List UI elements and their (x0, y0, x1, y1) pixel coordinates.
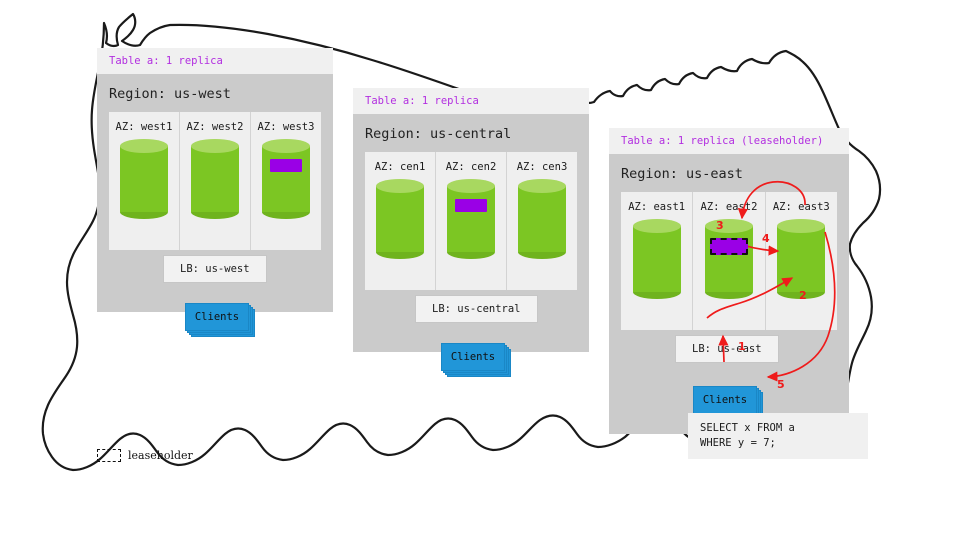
cylinder-top (705, 219, 753, 233)
az-cell-east3[interactable]: AZ: east3 (766, 192, 837, 330)
cylinder-body (120, 146, 168, 212)
az-label-cen1: AZ: cen1 (375, 161, 426, 173)
flow-step-number-1: 1 (738, 340, 746, 353)
flow-step-number-5: 5 (777, 378, 785, 391)
az-label-east3: AZ: east3 (773, 201, 830, 213)
cylinder-body (705, 226, 753, 292)
cylinder-body (447, 186, 495, 252)
lb-label-us-central: LB: us-central (432, 303, 521, 315)
cylinder-body (376, 186, 424, 252)
panel-header-us-east: Table a: 1 replica (leaseholder) (609, 128, 849, 154)
az-row-us-central: AZ: cen1 AZ: cen2 (365, 152, 577, 290)
cylinder-top (518, 179, 566, 193)
replica-marker-cen2[interactable] (455, 199, 487, 212)
az-label-west2: AZ: west2 (187, 121, 244, 133)
legend: leaseholder (97, 449, 193, 462)
az-label-east1: AZ: east1 (628, 201, 685, 213)
region-title-us-east: Region: us-east (609, 154, 849, 192)
az-label-west1: AZ: west1 (116, 121, 173, 133)
replica-cylinder-east1[interactable] (633, 219, 681, 299)
panel-body-us-west: Region: us-west AZ: west1 AZ: west2 (97, 74, 333, 312)
cylinder-body (262, 146, 310, 212)
load-balancer-us-east[interactable]: LB: us-east (675, 335, 779, 363)
clients-stack-us-central[interactable]: Clients (441, 343, 503, 369)
legend-label: leaseholder (128, 449, 193, 462)
replica-cylinder-east3[interactable] (777, 219, 825, 299)
load-balancer-us-central[interactable]: LB: us-central (415, 295, 538, 323)
cylinder-top (777, 219, 825, 233)
az-cell-cen1[interactable]: AZ: cen1 (365, 152, 436, 290)
dashed-rectangle-icon (97, 449, 121, 462)
panel-body-us-central: Region: us-central AZ: cen1 AZ: cen2 (353, 114, 589, 352)
load-balancer-us-west[interactable]: LB: us-west (163, 255, 267, 283)
az-label-cen3: AZ: cen3 (517, 161, 568, 173)
region-panel-us-central: Table a: 1 replica Region: us-central AZ… (353, 88, 589, 352)
cylinder-body (191, 146, 239, 212)
table-replica-label-us-east: Table a: 1 replica (leaseholder) (621, 135, 823, 147)
table-replica-label-us-west: Table a: 1 replica (109, 55, 223, 67)
cylinder-top (447, 179, 495, 193)
az-cell-west3[interactable]: AZ: west3 (251, 112, 321, 250)
az-cell-cen2[interactable]: AZ: cen2 (436, 152, 507, 290)
cylinder-top (376, 179, 424, 193)
region-panel-us-east: Table a: 1 replica (leaseholder) Region:… (609, 128, 849, 434)
replica-cylinder-cen1[interactable] (376, 179, 424, 259)
clients-label-us-west: Clients (185, 303, 249, 331)
replica-marker-west3[interactable] (270, 159, 302, 172)
sql-query-box: SELECT x FROM a WHERE y = 7; (688, 413, 868, 459)
az-cell-cen3[interactable]: AZ: cen3 (507, 152, 577, 290)
cylinder-top (191, 139, 239, 153)
lb-label-us-west: LB: us-west (180, 263, 250, 275)
sql-query-text: SELECT x FROM a WHERE y = 7; (700, 422, 795, 449)
cylinder-top (262, 139, 310, 153)
flow-step-number-2: 2 (799, 289, 807, 302)
replica-cylinder-west3[interactable] (262, 139, 310, 219)
panel-header-us-central: Table a: 1 replica (353, 88, 589, 114)
az-label-west3: AZ: west3 (258, 121, 315, 133)
flow-step-number-3: 3 (716, 219, 724, 232)
cylinder-body (633, 226, 681, 292)
clients-stack-us-west[interactable]: Clients (185, 303, 247, 329)
panel-body-us-east: Region: us-east AZ: east1 AZ: east2 (609, 154, 849, 434)
az-cell-east2[interactable]: AZ: east2 (693, 192, 765, 330)
replica-cylinder-west2[interactable] (191, 139, 239, 219)
replica-cylinder-east2[interactable] (705, 219, 753, 299)
cylinder-body (777, 226, 825, 292)
table-replica-label-us-central: Table a: 1 replica (365, 95, 479, 107)
replica-cylinder-cen2[interactable] (447, 179, 495, 259)
clients-label-us-east: Clients (693, 386, 757, 414)
az-label-cen2: AZ: cen2 (446, 161, 497, 173)
clients-label-us-central: Clients (441, 343, 505, 371)
az-row-us-east: AZ: east1 AZ: east2 (621, 192, 837, 330)
leaseholder-replica-marker-east2[interactable] (710, 238, 748, 255)
cylinder-top (120, 139, 168, 153)
az-cell-west1[interactable]: AZ: west1 (109, 112, 180, 250)
flow-step-number-4: 4 (762, 232, 770, 245)
region-title-us-west: Region: us-west (97, 74, 333, 112)
lb-label-us-east: LB: us-east (692, 343, 762, 355)
cylinder-top (633, 219, 681, 233)
region-title-us-central: Region: us-central (353, 114, 589, 152)
replica-cylinder-west1[interactable] (120, 139, 168, 219)
region-panel-us-west: Table a: 1 replica Region: us-west AZ: w… (97, 48, 333, 312)
az-label-east2: AZ: east2 (701, 201, 758, 213)
replica-cylinder-cen3[interactable] (518, 179, 566, 259)
clients-stack-us-east[interactable]: Clients (693, 386, 755, 412)
az-cell-west2[interactable]: AZ: west2 (180, 112, 251, 250)
cylinder-body (518, 186, 566, 252)
panel-header-us-west: Table a: 1 replica (97, 48, 333, 74)
diagram-canvas: Table a: 1 replica Region: us-west AZ: w… (0, 0, 960, 540)
az-row-us-west: AZ: west1 AZ: west2 AZ (109, 112, 321, 250)
az-cell-east1[interactable]: AZ: east1 (621, 192, 693, 330)
